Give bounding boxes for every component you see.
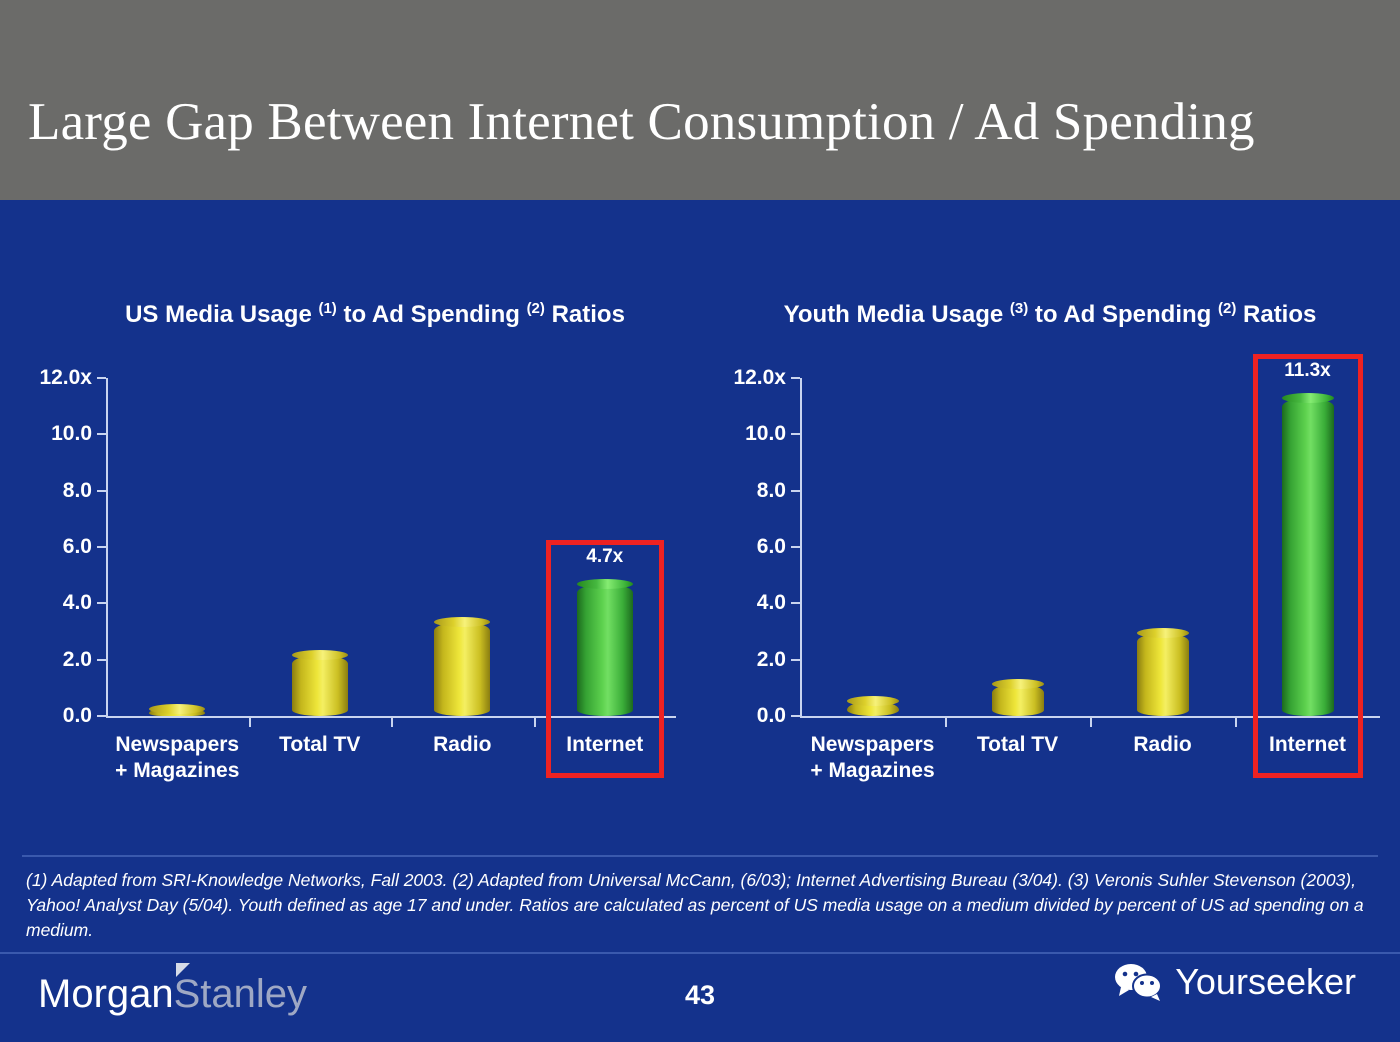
y-axis-line-left [106, 378, 108, 716]
y-tick-label: 0.0 [63, 704, 92, 728]
y-tick [97, 490, 106, 492]
yourseeker-watermark: Yourseeker [1113, 962, 1356, 1002]
bar-top-cap [149, 704, 205, 714]
y-tick-label: 4.0 [63, 591, 92, 615]
footer-divider [0, 952, 1400, 954]
bar-radio [1137, 633, 1189, 716]
footnote-ref-1: (1) [318, 300, 336, 317]
y-tick-label: 8.0 [757, 479, 786, 503]
x-category-label: Newspapers + Magazines [106, 732, 249, 784]
chart-title-right-part-b: to Ad Spending [1028, 301, 1218, 328]
x-tick [1090, 716, 1092, 727]
y-tick [791, 715, 800, 717]
chart-title-left-part-b: to Ad Spending [337, 301, 527, 328]
bar-newspapers---magazines [847, 701, 899, 716]
y-axis-line-right [800, 378, 802, 716]
y-tick-label: 8.0 [63, 479, 92, 503]
x-category-label: Radio [391, 732, 534, 758]
bar-top-cap [292, 650, 348, 660]
slide-root: Large Gap Between Internet Consumption /… [0, 0, 1400, 1042]
y-tick [791, 659, 800, 661]
bar-top-cap [847, 696, 899, 706]
chart-title-left: US Media Usage (1) to Ad Spending (2) Ra… [0, 292, 730, 332]
bar-top-cap [434, 617, 490, 627]
x-category-label: Total TV [945, 732, 1090, 758]
y-tick-label: 0.0 [757, 704, 786, 728]
y-tick-label: 6.0 [63, 535, 92, 559]
yourseeker-label: Yourseeker [1175, 962, 1356, 1002]
wechat-icon [1113, 962, 1165, 1002]
x-tick [945, 716, 947, 727]
footnote-ref-3: (3) [1010, 300, 1028, 317]
bar-top-cap [992, 679, 1044, 689]
chart-title-left-part-c: Ratios [545, 301, 625, 328]
x-tick [1235, 716, 1237, 727]
bar-newspapers---magazines [149, 709, 205, 716]
footnote-ref-2: (2) [527, 300, 545, 317]
chart-title-right: Youth Media Usage (3) to Ad Spending (2)… [700, 292, 1400, 332]
y-tick [97, 433, 106, 435]
y-tick-label: 2.0 [757, 648, 786, 672]
page-title: Large Gap Between Internet Consumption /… [28, 92, 1378, 152]
x-category-label: Total TV [249, 732, 392, 758]
morgan-stanley-triangle-icon [176, 963, 190, 977]
x-category-label: Newspapers + Magazines [800, 732, 945, 784]
bar-total-tv [292, 655, 348, 716]
bar-radio [434, 622, 490, 716]
y-tick [97, 659, 106, 661]
y-tick-label: 10.0 [745, 422, 786, 446]
x-category-label: Radio [1090, 732, 1235, 758]
y-tick [97, 715, 106, 717]
y-tick-label: 6.0 [757, 535, 786, 559]
chart-title-right-part-a: Youth Media Usage [784, 301, 1010, 328]
y-tick-label: 10.0 [51, 422, 92, 446]
footnote-ref-2b: (2) [1218, 300, 1236, 317]
x-category-label: Internet [534, 732, 677, 758]
y-tick [97, 602, 106, 604]
y-tick [97, 377, 106, 379]
y-tick-label: 4.0 [757, 591, 786, 615]
y-tick [97, 546, 106, 548]
chart-title-right-part-c: Ratios [1236, 301, 1316, 328]
x-tick [249, 716, 251, 727]
highlight-box-internet-right [1253, 354, 1363, 778]
y-tick-label: 12.0x [39, 366, 92, 390]
y-tick [791, 546, 800, 548]
x-tick [391, 716, 393, 727]
x-tick [534, 716, 536, 727]
y-tick-label: 12.0x [733, 366, 786, 390]
y-tick [791, 602, 800, 604]
y-tick [791, 377, 800, 379]
footnote-divider [22, 855, 1378, 857]
y-tick-label: 2.0 [63, 648, 92, 672]
y-tick [791, 490, 800, 492]
bar-top-cap [1137, 628, 1189, 638]
y-tick [791, 433, 800, 435]
chart-title-left-part-a: US Media Usage [125, 301, 318, 328]
footnote-text: (1) Adapted from SRI-Knowledge Networks,… [26, 868, 1376, 943]
x-category-label: Internet [1235, 732, 1380, 758]
bar-total-tv [992, 684, 1044, 716]
